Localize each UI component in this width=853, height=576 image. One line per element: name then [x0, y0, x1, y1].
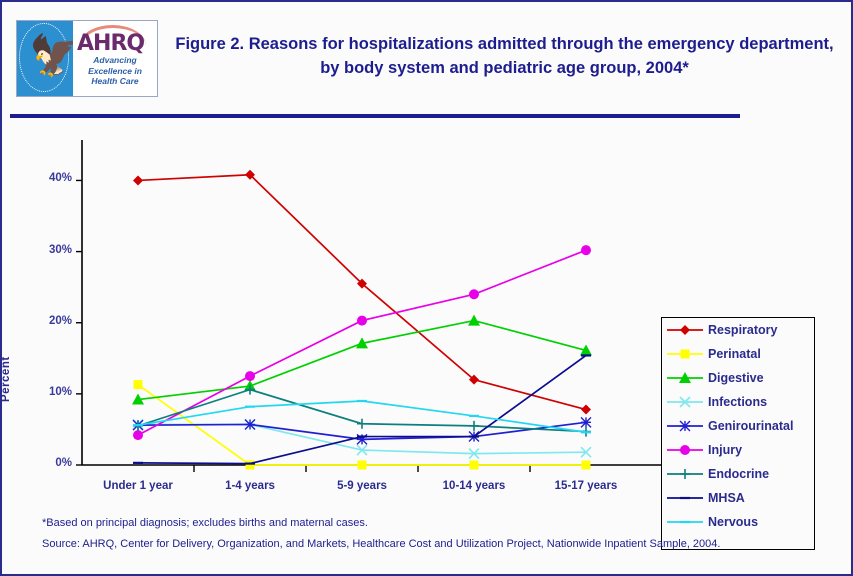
legend-swatch-icon	[666, 443, 704, 457]
figure-footnote: *Based on principal diagnosis; excludes …	[42, 517, 832, 529]
legend-label: Endocrine	[708, 467, 769, 481]
x-tick-label: 5-9 years	[302, 480, 422, 492]
data-point-marker	[133, 430, 143, 440]
chart-legend: RespiratoryPerinatalDigestiveInfectionsG…	[661, 317, 815, 550]
figure-header: 🦅 AHRQ Advancing Excellence in Health Ca…	[2, 2, 851, 110]
chart-series-layer	[132, 170, 592, 470]
legend-swatch-icon	[666, 347, 704, 361]
data-point-marker	[581, 417, 591, 427]
data-point-marker	[468, 315, 480, 326]
data-point-marker	[581, 405, 591, 415]
y-tick-label: 30%	[28, 244, 72, 256]
data-point-marker	[134, 380, 143, 389]
legend-item-injury[interactable]: Injury	[662, 438, 814, 462]
y-tick-label: 10%	[28, 386, 72, 398]
data-point-marker	[681, 350, 690, 359]
x-tick-label: 10-14 years	[414, 480, 534, 492]
series-line	[138, 321, 586, 400]
data-point-marker	[357, 419, 367, 429]
x-tick-label: 1-4 years	[190, 480, 310, 492]
ahrq-logo: 🦅 AHRQ Advancing Excellence in Health Ca…	[16, 20, 158, 97]
legend-swatch-icon	[666, 371, 704, 385]
legend-swatch-icon	[666, 419, 704, 433]
legend-item-endocrine[interactable]: Endocrine	[662, 462, 814, 486]
figure-source: Source: AHRQ, Center for Delivery, Organ…	[42, 538, 832, 550]
legend-label: Genirourinatal	[708, 419, 793, 433]
y-tick-label: 40%	[28, 172, 72, 184]
seal-eagle-icon: 🦅	[29, 35, 59, 81]
data-point-marker	[581, 245, 591, 255]
legend-swatch-icon	[666, 323, 704, 337]
data-point-marker	[470, 461, 479, 470]
x-tick-label: 15-17 years	[526, 480, 646, 492]
legend-item-perinatal[interactable]: Perinatal	[662, 342, 814, 366]
data-point-marker	[245, 371, 255, 381]
data-point-marker	[358, 461, 367, 470]
series-digestive	[132, 315, 592, 405]
series-line	[138, 175, 586, 410]
legend-label: Injury	[708, 443, 742, 457]
series-line	[138, 355, 586, 463]
legend-item-genirourinatal[interactable]: Genirourinatal	[662, 414, 814, 438]
data-point-marker	[469, 289, 479, 299]
data-point-marker	[469, 421, 479, 431]
ahrq-wordmark-block: AHRQ Advancing Excellence in Health Care	[73, 21, 157, 96]
series-respiratory	[133, 170, 591, 415]
x-tick-label: Under 1 year	[78, 480, 198, 492]
legend-label: Perinatal	[708, 347, 761, 361]
figure-page: 🦅 AHRQ Advancing Excellence in Health Ca…	[0, 0, 853, 576]
data-point-marker	[133, 175, 143, 185]
legend-label: Respiratory	[708, 323, 777, 337]
y-tick-label: 20%	[28, 315, 72, 327]
legend-item-mhsa[interactable]: MHSA	[662, 486, 814, 510]
series-mhsa	[133, 355, 591, 463]
legend-swatch-icon	[666, 491, 704, 505]
legend-swatch-icon	[666, 395, 704, 409]
ahrq-wordmark: AHRQ	[77, 31, 144, 56]
data-point-marker	[246, 461, 255, 470]
data-point-marker	[680, 469, 690, 479]
chart-container: Percent 0%10%20%30%40% Under 1 year1-4 y…	[2, 122, 851, 512]
data-point-marker	[680, 325, 690, 335]
y-tick-label: 0%	[28, 457, 72, 469]
legend-item-respiratory[interactable]: Respiratory	[662, 318, 814, 342]
data-point-marker	[245, 419, 255, 429]
legend-label: MHSA	[708, 491, 745, 505]
ahrq-tagline: Advancing Excellence in Health Care	[77, 55, 153, 87]
data-point-marker	[582, 461, 591, 470]
legend-item-digestive[interactable]: Digestive	[662, 366, 814, 390]
legend-label: Digestive	[708, 371, 764, 385]
data-point-marker	[680, 421, 690, 431]
legend-item-infections[interactable]: Infections	[662, 390, 814, 414]
header-divider	[10, 114, 740, 118]
data-point-marker	[680, 445, 690, 455]
figure-title: Figure 2. Reasons for hospitalizations a…	[172, 32, 837, 80]
legend-label: Infections	[708, 395, 767, 409]
hhs-seal-icon: 🦅	[17, 21, 73, 96]
data-point-marker	[357, 316, 367, 326]
figure-notes: *Based on principal diagnosis; excludes …	[42, 517, 832, 559]
legend-swatch-icon	[666, 467, 704, 481]
